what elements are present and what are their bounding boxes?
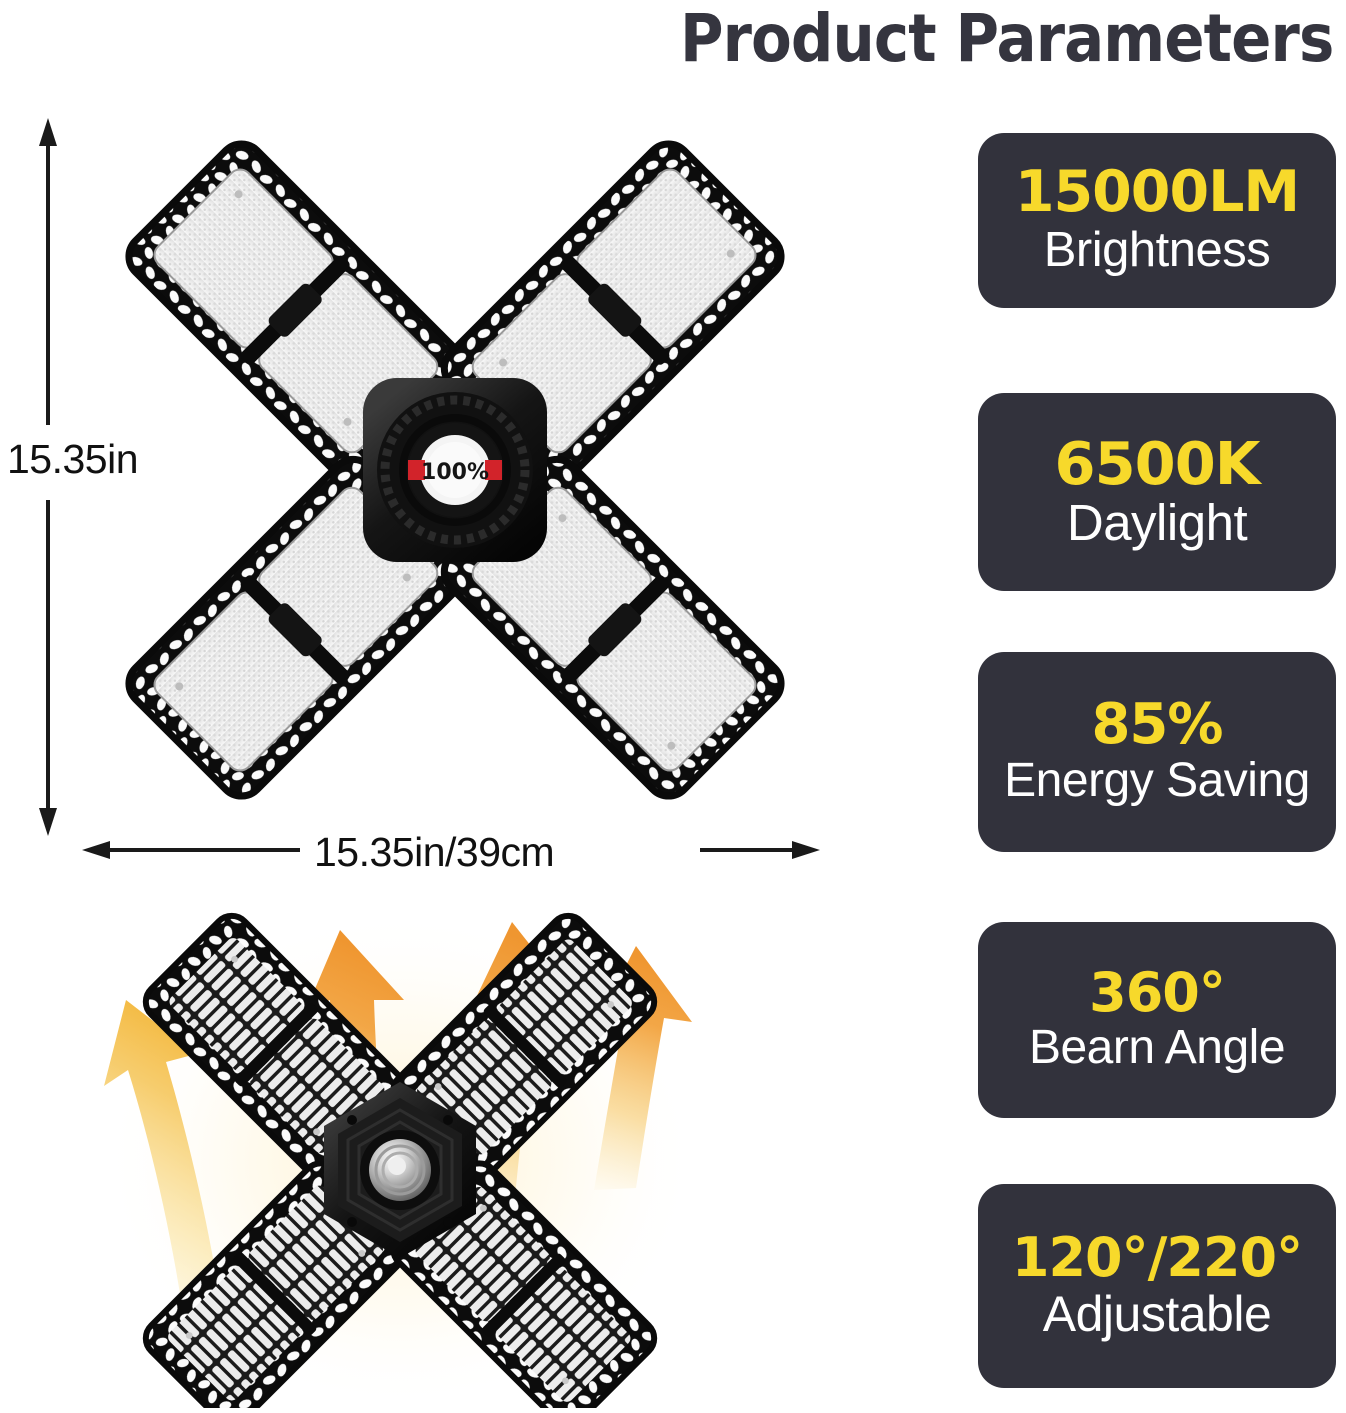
parameter-card-brightness: 15000LM Brightness bbox=[978, 133, 1336, 308]
parameter-value: 6500K bbox=[1055, 433, 1260, 494]
parameter-value: 15000LM bbox=[1015, 163, 1299, 222]
parameter-label: Daylight bbox=[1067, 494, 1247, 551]
product-illustration-column: 100% bbox=[0, 0, 960, 1408]
parameter-label: Adjustable bbox=[1043, 1286, 1272, 1342]
parameter-card-list: 15000LM Brightness 6500K Daylight 85% En… bbox=[978, 0, 1346, 1408]
parameter-value: 120°/220° bbox=[1012, 1230, 1302, 1286]
svg-text:100%: 100% bbox=[421, 460, 489, 485]
parameter-label: Energy Saving bbox=[1004, 754, 1310, 808]
parameter-value: 360° bbox=[1089, 965, 1225, 1021]
parameter-card-energy-saving: 85% Energy Saving bbox=[978, 652, 1336, 852]
top-view-fixture: 100% bbox=[120, 135, 790, 805]
parameter-label: Brightness bbox=[1044, 223, 1271, 278]
parameter-card-color-temperature: 6500K Daylight bbox=[978, 393, 1336, 591]
parameter-value: 85% bbox=[1091, 696, 1222, 754]
product-illustrations-svg: 100% bbox=[0, 0, 960, 1408]
bottom-view-fixture bbox=[100, 908, 700, 1408]
dimension-label-width: 15.35in/39cm bbox=[302, 827, 566, 878]
screw-base-icon bbox=[369, 1139, 431, 1201]
parameter-card-adjustable-angle: 120°/220° Adjustable bbox=[978, 1184, 1336, 1388]
parameter-label: Bearn Angle bbox=[1029, 1021, 1285, 1075]
parameter-card-beam-angle: 360° Bearn Angle bbox=[978, 922, 1336, 1118]
hub-brand-badge: 100% bbox=[408, 423, 502, 517]
dimension-label-height: 15.35in bbox=[4, 430, 141, 489]
fixture-center-hub: 100% bbox=[363, 378, 547, 562]
